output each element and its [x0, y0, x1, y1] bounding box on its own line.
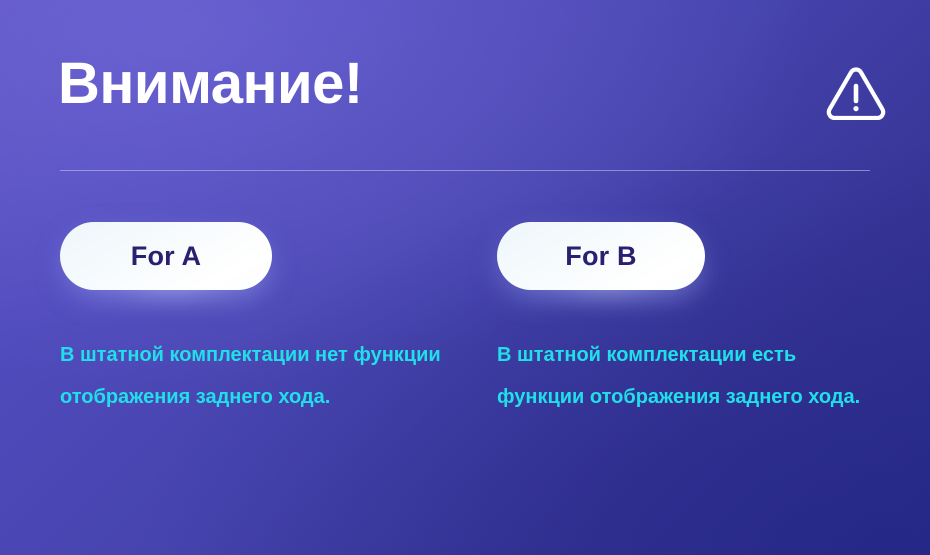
warning-slide: Внимание! For A В штатной комплектации н… — [0, 0, 930, 555]
pill-wrap-b: For B — [497, 222, 897, 292]
for-b-description: В штатной комплектации есть функции отоб… — [497, 292, 882, 418]
warning-triangle-icon — [824, 62, 888, 126]
column-for-b: For B В штатной комплектации есть функци… — [497, 222, 897, 418]
comparison-columns: For A В штатной комплектации нет функции… — [0, 222, 930, 522]
header-divider — [60, 170, 870, 171]
for-b-button[interactable]: For B — [497, 222, 705, 290]
for-a-button[interactable]: For A — [60, 222, 272, 290]
page-title: Внимание! — [58, 48, 363, 120]
for-a-description: В штатной комплектации нет функции отобр… — [60, 292, 445, 418]
pill-wrap-a: For A — [60, 222, 460, 292]
column-for-a: For A В штатной комплектации нет функции… — [60, 222, 460, 418]
